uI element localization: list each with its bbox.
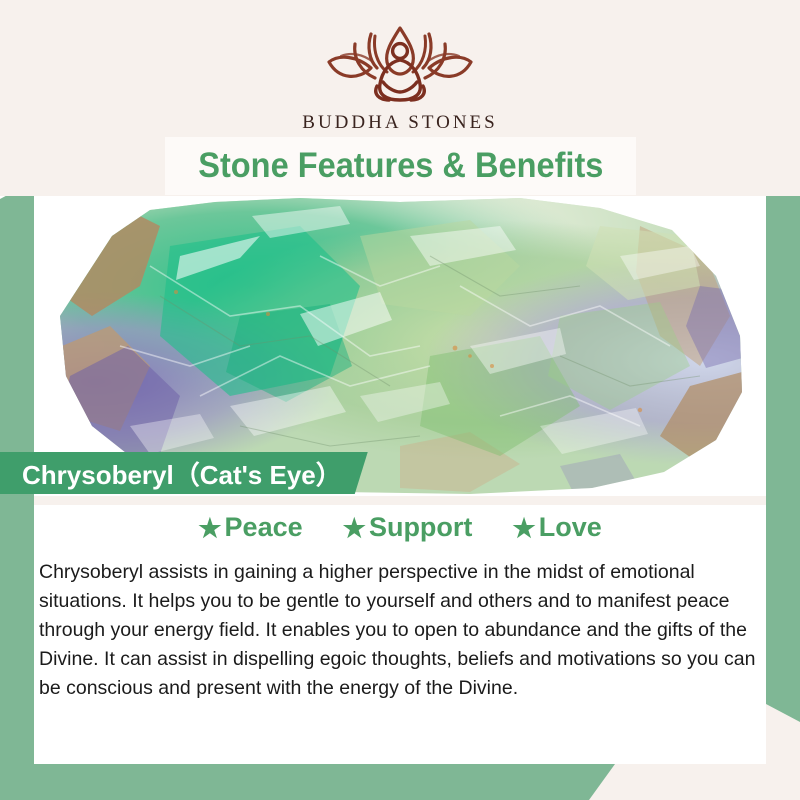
stone-content-card: ★ Peace ★ Support ★ Love Chrysoberyl ass… — [34, 505, 766, 764]
page-title-plate: Stone Features & Benefits — [165, 137, 636, 195]
frame-bottom-bar — [0, 764, 615, 800]
keyword-item-peace: ★ Peace — [198, 512, 302, 543]
keyword-list: ★ Peace ★ Support ★ Love — [34, 512, 766, 543]
page-title: Stone Features & Benefits — [198, 146, 603, 186]
stone-info-card: BUDDHA STONES Stone Features & Benefits … — [0, 0, 800, 800]
lotus-meditation-figure-icon — [315, 22, 485, 108]
star-icon: ★ — [512, 515, 535, 541]
keyword-label-love: Love — [539, 512, 602, 543]
brand-name: BUDDHA STONES — [302, 112, 497, 134]
stone-name-banner: Chrysoberyl（Cat's Eye） — [0, 452, 368, 494]
stone-photo — [0, 196, 800, 496]
stone-name-label: Chrysoberyl（Cat's Eye） — [22, 455, 342, 492]
keyword-label-peace: Peace — [225, 512, 303, 543]
stone-photo-illustration — [0, 196, 800, 496]
star-icon: ★ — [343, 515, 366, 541]
stone-description: Chrysoberyl assists in gaining a higher … — [39, 558, 761, 703]
keyword-item-love: ★ Love — [512, 512, 601, 543]
brand-logo: BUDDHA STONES — [0, 22, 800, 134]
star-icon: ★ — [198, 515, 221, 541]
keyword-label-support: Support — [369, 512, 472, 543]
keyword-item-support: ★ Support — [343, 512, 473, 543]
